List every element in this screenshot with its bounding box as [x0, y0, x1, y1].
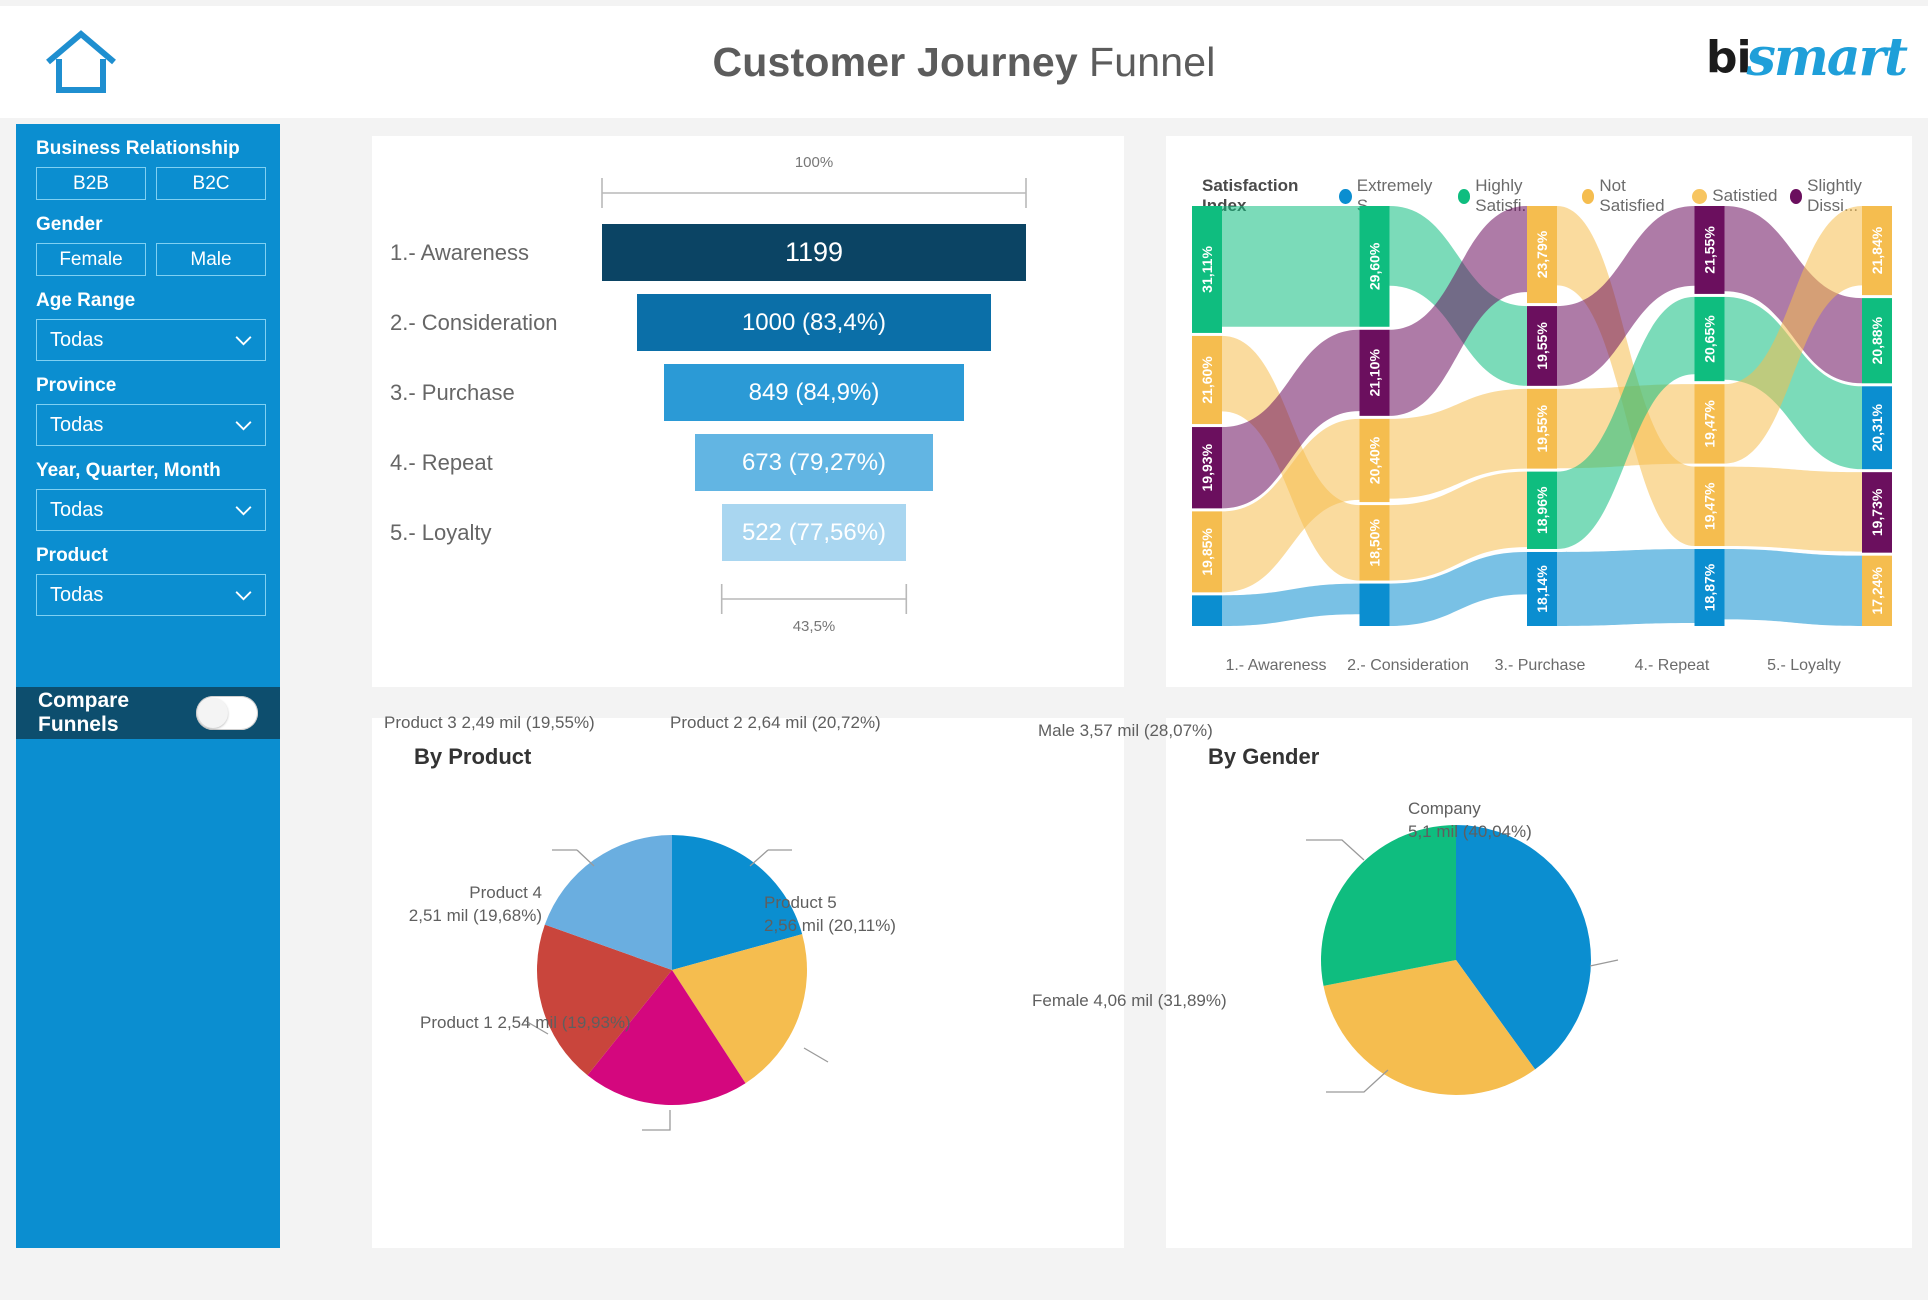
- sankey-stage-label: 3.- Purchase: [1474, 657, 1606, 675]
- chevron-down-icon: [234, 335, 253, 346]
- pie-label-product-2: Product 2 2,64 mil (20,72%): [670, 712, 881, 735]
- sankey-stage-label: 5.- Loyalty: [1738, 657, 1870, 675]
- pie-label-product-5-value: 2,56 mil (20,11%): [764, 916, 896, 935]
- funnel-bar[interactable]: 673 (79,27%): [695, 434, 933, 491]
- svg-text:20,40%: 20,40%: [1367, 436, 1383, 484]
- toggle-knob: [198, 698, 228, 728]
- sankey-diagram[interactable]: 31,11%21,60%19,93%19,85%29,60%21,10%20,4…: [1192, 206, 1892, 626]
- funnel-top-percent: 100%: [764, 154, 864, 171]
- svg-text:21,10%: 21,10%: [1367, 349, 1383, 397]
- year-quarter-month-value: Todas: [50, 499, 103, 522]
- svg-text:20,88%: 20,88%: [1869, 316, 1885, 364]
- svg-text:21,60%: 21,60%: [1199, 356, 1215, 404]
- funnel-stage-label: 2.- Consideration: [372, 310, 632, 336]
- funnel-bottom-percent: 43,5%: [764, 618, 864, 635]
- by-product-pie-wrap: Product 3 2,49 mil (19,55%) Product 2 2,…: [372, 770, 1124, 1300]
- page-title-regular: Funnel: [1089, 39, 1216, 86]
- filters-sidebar: Business Relationship B2B B2C Gender Fem…: [16, 124, 280, 1248]
- funnel-stage-label: 1.- Awareness: [372, 240, 632, 266]
- product-dropdown[interactable]: Todas: [36, 574, 266, 616]
- logo-bi-text: bi: [1706, 32, 1751, 83]
- product-value: Todas: [50, 584, 103, 607]
- funnel-bar[interactable]: 1199: [602, 224, 1026, 281]
- year-quarter-month-dropdown[interactable]: Todas: [36, 489, 266, 531]
- pie-label-product-1: Product 1 2,54 mil (19,93%): [420, 1012, 631, 1035]
- compare-funnels-toggle[interactable]: [196, 696, 258, 730]
- svg-text:21,84%: 21,84%: [1869, 226, 1885, 274]
- funnel-stage-label: 4.- Repeat: [372, 450, 632, 476]
- filter-label-age-range: Age Range: [16, 290, 280, 312]
- funnel-chart-card: 100% 1.- Awareness11992.- Consideration1…: [372, 136, 1124, 687]
- logo-smart-text: smart: [1747, 27, 1906, 88]
- filter-label-product: Product: [16, 545, 280, 567]
- svg-text:17,24%: 17,24%: [1869, 567, 1885, 615]
- svg-text:18,50%: 18,50%: [1367, 519, 1383, 567]
- pie-label-product-5-name: Product 5: [764, 893, 837, 912]
- legend-color-dot: [1582, 189, 1595, 204]
- svg-text:23,79%: 23,79%: [1534, 230, 1550, 278]
- province-value: Todas: [50, 414, 103, 437]
- funnel-stage-label: 3.- Purchase: [372, 380, 632, 406]
- svg-text:21,55%: 21,55%: [1702, 226, 1718, 274]
- age-range-value: Todas: [50, 329, 103, 352]
- funnel-bar[interactable]: 849 (84,9%): [664, 364, 964, 421]
- filter-label-business-relationship: Business Relationship: [16, 138, 280, 160]
- province-dropdown[interactable]: Todas: [36, 404, 266, 446]
- app-header: Customer Journey Funnel bi smart: [0, 6, 1928, 118]
- pie-label-product-4: Product 4 2,51 mil (19,68%): [362, 882, 542, 928]
- svg-text:19,85%: 19,85%: [1199, 528, 1215, 576]
- svg-text:19,55%: 19,55%: [1534, 322, 1550, 370]
- pie-label-female: Female 4,06 mil (31,89%): [1032, 990, 1227, 1013]
- chevron-down-icon: [234, 505, 253, 516]
- funnel-row[interactable]: 1.- Awareness1199: [372, 224, 1124, 281]
- funnel-row[interactable]: 2.- Consideration1000 (83,4%): [372, 294, 1124, 351]
- svg-text:19,73%: 19,73%: [1869, 488, 1885, 536]
- sankey-stage-label: 1.- Awareness: [1210, 657, 1342, 675]
- pie-label-product-4-value: 2,51 mil (19,68%): [409, 906, 542, 925]
- filter-option-male[interactable]: Male: [156, 243, 266, 276]
- pie-label-company-name: Company: [1408, 799, 1481, 818]
- pie-label-product-4-name: Product 4: [469, 883, 542, 902]
- legend-color-dot: [1692, 189, 1707, 204]
- by-gender-pie-wrap: Male 3,57 mil (28,07%) Company 5,1 mil (…: [1166, 770, 1912, 1300]
- svg-text:19,93%: 19,93%: [1199, 443, 1215, 491]
- filter-option-b2c[interactable]: B2C: [156, 167, 266, 200]
- funnel-chart: 100% 1.- Awareness11992.- Consideration1…: [372, 136, 1124, 687]
- svg-text:20,65%: 20,65%: [1702, 315, 1718, 363]
- filter-label-province: Province: [16, 375, 280, 397]
- funnel-row[interactable]: 3.- Purchase849 (84,9%): [372, 364, 1124, 421]
- svg-text:19,55%: 19,55%: [1534, 404, 1550, 452]
- compare-funnels-label: Compare Funnels: [38, 689, 196, 737]
- svg-text:18,14%: 18,14%: [1534, 565, 1550, 613]
- by-gender-title: By Gender: [1166, 718, 1912, 770]
- pie-label-product-5: Product 5 2,56 mil (20,11%): [764, 892, 934, 938]
- chevron-down-icon: [234, 420, 253, 431]
- svg-text:29,60%: 29,60%: [1367, 242, 1383, 290]
- gender-buttons: Female Male: [16, 243, 280, 276]
- page-title-bold: Customer Journey: [712, 39, 1077, 86]
- funnel-stage-label: 5.- Loyalty: [372, 520, 632, 546]
- filter-label-gender: Gender: [16, 214, 280, 236]
- funnel-bar[interactable]: 522 (77,56%): [722, 504, 907, 561]
- svg-text:19,47%: 19,47%: [1702, 482, 1718, 530]
- legend-color-dot: [1790, 189, 1803, 204]
- svg-text:18,87%: 18,87%: [1702, 563, 1718, 611]
- sankey-axis-labels: 1.- Awareness2.- Consideration3.- Purcha…: [1210, 657, 1870, 675]
- legend-item[interactable]: Satistied: [1692, 186, 1777, 206]
- business-relationship-buttons: B2B B2C: [16, 167, 280, 200]
- sankey-stage-label: 4.- Repeat: [1606, 657, 1738, 675]
- funnel-bar[interactable]: 1000 (83,4%): [637, 294, 991, 351]
- by-gender-card: By Gender Male 3,57 mil (28,07%) Company…: [1166, 718, 1912, 1248]
- page-title: Customer Journey Funnel: [0, 6, 1928, 118]
- bismart-logo: bi smart: [1706, 24, 1906, 90]
- pie-label-product-3: Product 3 2,49 mil (19,55%): [384, 712, 595, 735]
- by-product-pie[interactable]: [372, 770, 1124, 1240]
- filter-label-year-quarter-month: Year, Quarter, Month: [16, 460, 280, 482]
- funnel-row[interactable]: 4.- Repeat673 (79,27%): [372, 434, 1124, 491]
- satisfaction-sankey-card: Satisfaction Index Extremely S...Highly …: [1166, 136, 1912, 687]
- funnel-row[interactable]: 5.- Loyalty522 (77,56%): [372, 504, 1124, 561]
- legend-color-dot: [1339, 189, 1352, 204]
- pie-label-male: Male 3,57 mil (28,07%): [1038, 720, 1213, 743]
- svg-text:18,96%: 18,96%: [1534, 486, 1550, 534]
- sankey-stage-label: 2.- Consideration: [1342, 657, 1474, 675]
- svg-text:19,47%: 19,47%: [1702, 400, 1718, 448]
- filter-option-b2b[interactable]: B2B: [36, 167, 146, 200]
- legend-color-dot: [1458, 189, 1471, 204]
- filter-option-female[interactable]: Female: [36, 243, 146, 276]
- legend-item-label: Satistied: [1712, 186, 1777, 206]
- chevron-down-icon: [234, 590, 253, 601]
- compare-funnels-bar: Compare Funnels: [16, 687, 280, 739]
- by-product-card: By Product Product 3 2,49 mil (19,55%) P…: [372, 718, 1124, 1248]
- age-range-dropdown[interactable]: Todas: [36, 319, 266, 361]
- svg-text:20,31%: 20,31%: [1869, 403, 1885, 451]
- svg-text:31,11%: 31,11%: [1199, 246, 1215, 293]
- pie-label-company-value: 5,1 mil (40,04%): [1408, 822, 1532, 841]
- pie-label-company: Company 5,1 mil (40,04%): [1408, 798, 1598, 844]
